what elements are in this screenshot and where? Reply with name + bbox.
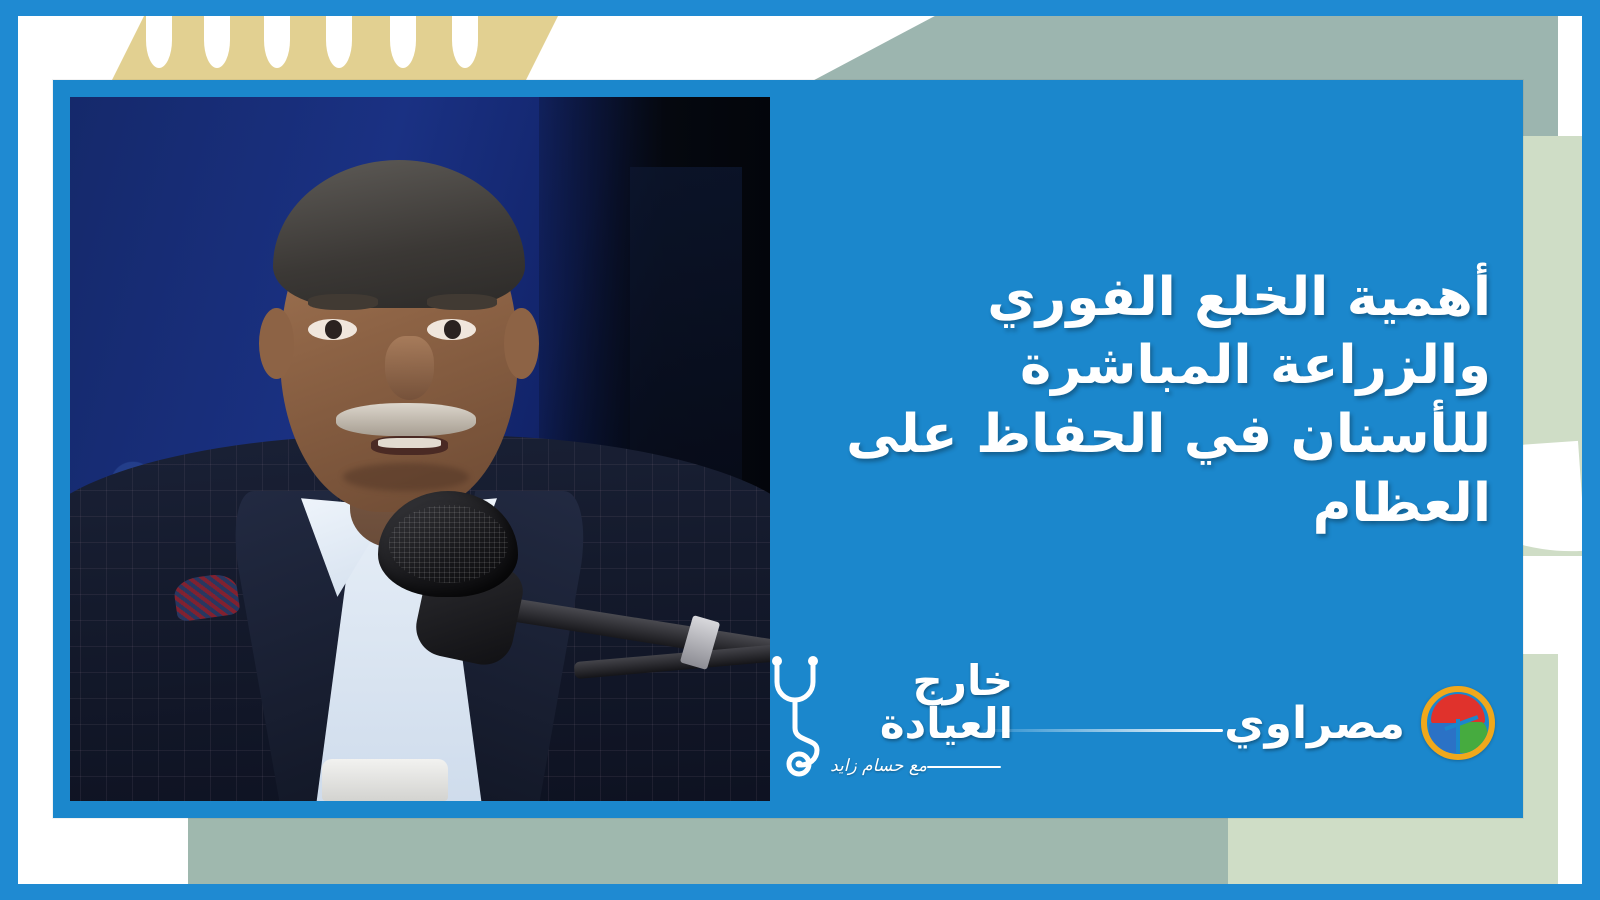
brand-name-text: مصراوي: [1224, 698, 1405, 749]
poster-canvas: أهمية الخلع الفوري والزراعة المباشرة للأ…: [0, 0, 1600, 900]
headline-text: أهمية الخلع الفوري والزراعة المباشرة للأ…: [811, 264, 1491, 540]
article-card: أهمية الخلع الفوري والزراعة المباشرة للأ…: [53, 80, 1523, 818]
brand-divider-rule: [983, 729, 1223, 732]
subtitle-rule: [927, 766, 1001, 768]
program-title: خارج العيادة: [880, 660, 1013, 746]
masrawy-circle-logo-icon: [1421, 686, 1495, 760]
poster-inner-frame: أهمية الخلع الفوري والزراعة المباشرة للأ…: [18, 16, 1582, 884]
program-logo: خارج العيادة مع حسام زايد: [763, 652, 1013, 780]
program-subtitle-text: مع حسام زايد: [830, 756, 927, 776]
program-title-line-1: خارج: [880, 660, 1013, 703]
stethoscope-icon: [763, 654, 835, 778]
program-subtitle: مع حسام زايد: [830, 756, 1009, 776]
decor-gold-brushstroke: [108, 16, 558, 88]
guest-photo: [70, 97, 770, 801]
program-title-line-2: العيادة: [880, 703, 1013, 746]
brand-logo[interactable]: مصراوي: [1224, 686, 1495, 760]
